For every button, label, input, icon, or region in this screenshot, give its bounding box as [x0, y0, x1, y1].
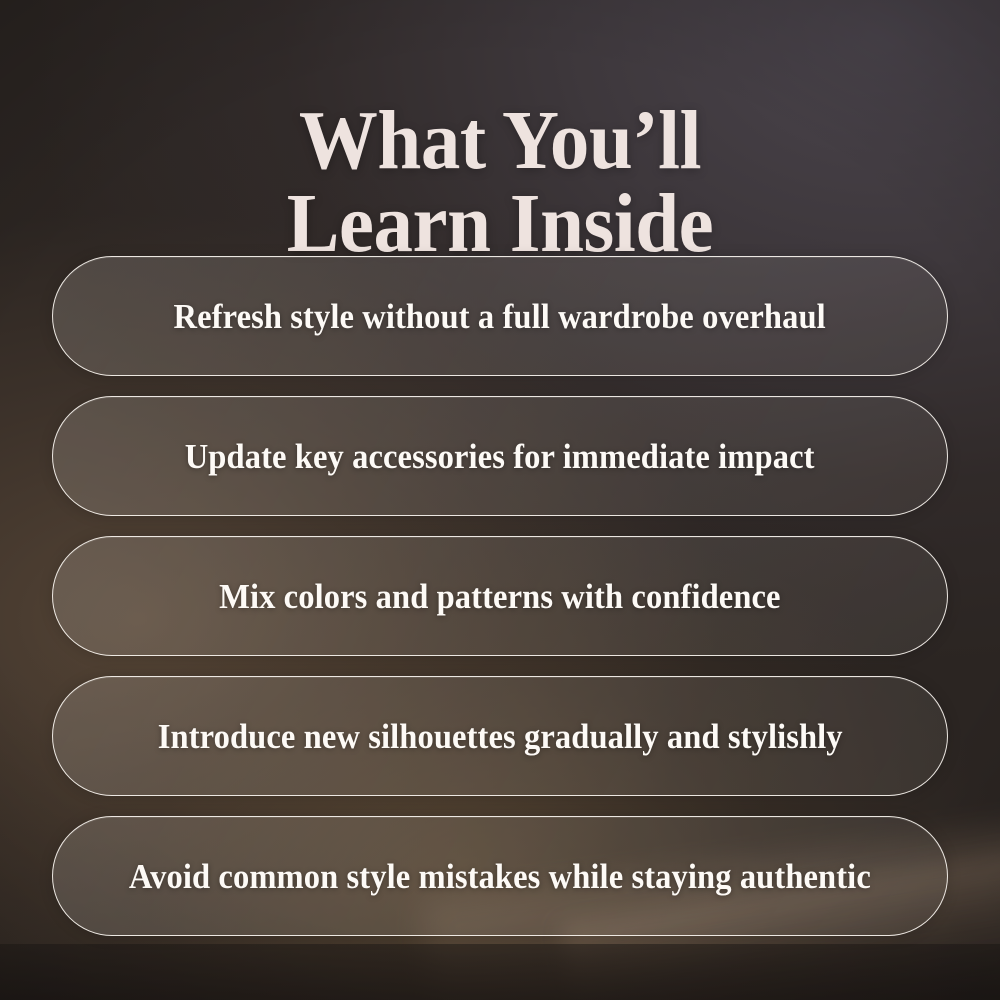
list-item-label: Update key accessories for immediate imp… — [185, 439, 815, 474]
list-item[interactable]: Update key accessories for immediate imp… — [52, 396, 948, 516]
list-item[interactable]: Refresh style without a full wardrobe ov… — [52, 256, 948, 376]
list-item[interactable]: Avoid common style mistakes while stayin… — [52, 816, 948, 936]
page-title-line-1: What You’ll — [30, 100, 970, 182]
page-title-line-2: Learn Inside — [30, 183, 970, 265]
list-item-label: Introduce new silhouettes gradually and … — [158, 719, 843, 754]
list-item-label: Avoid common style mistakes while stayin… — [129, 859, 871, 894]
list-item-label: Refresh style without a full wardrobe ov… — [174, 299, 826, 334]
page-title: What You’ll Learn Inside — [30, 100, 970, 265]
benefit-list: Refresh style without a full wardrobe ov… — [52, 256, 948, 936]
slide-canvas: What You’ll Learn Inside Refresh style w… — [0, 0, 1000, 1000]
list-item[interactable]: Introduce new silhouettes gradually and … — [52, 676, 948, 796]
list-item-label: Mix colors and patterns with confidence — [219, 579, 780, 614]
list-item[interactable]: Mix colors and patterns with confidence — [52, 536, 948, 656]
